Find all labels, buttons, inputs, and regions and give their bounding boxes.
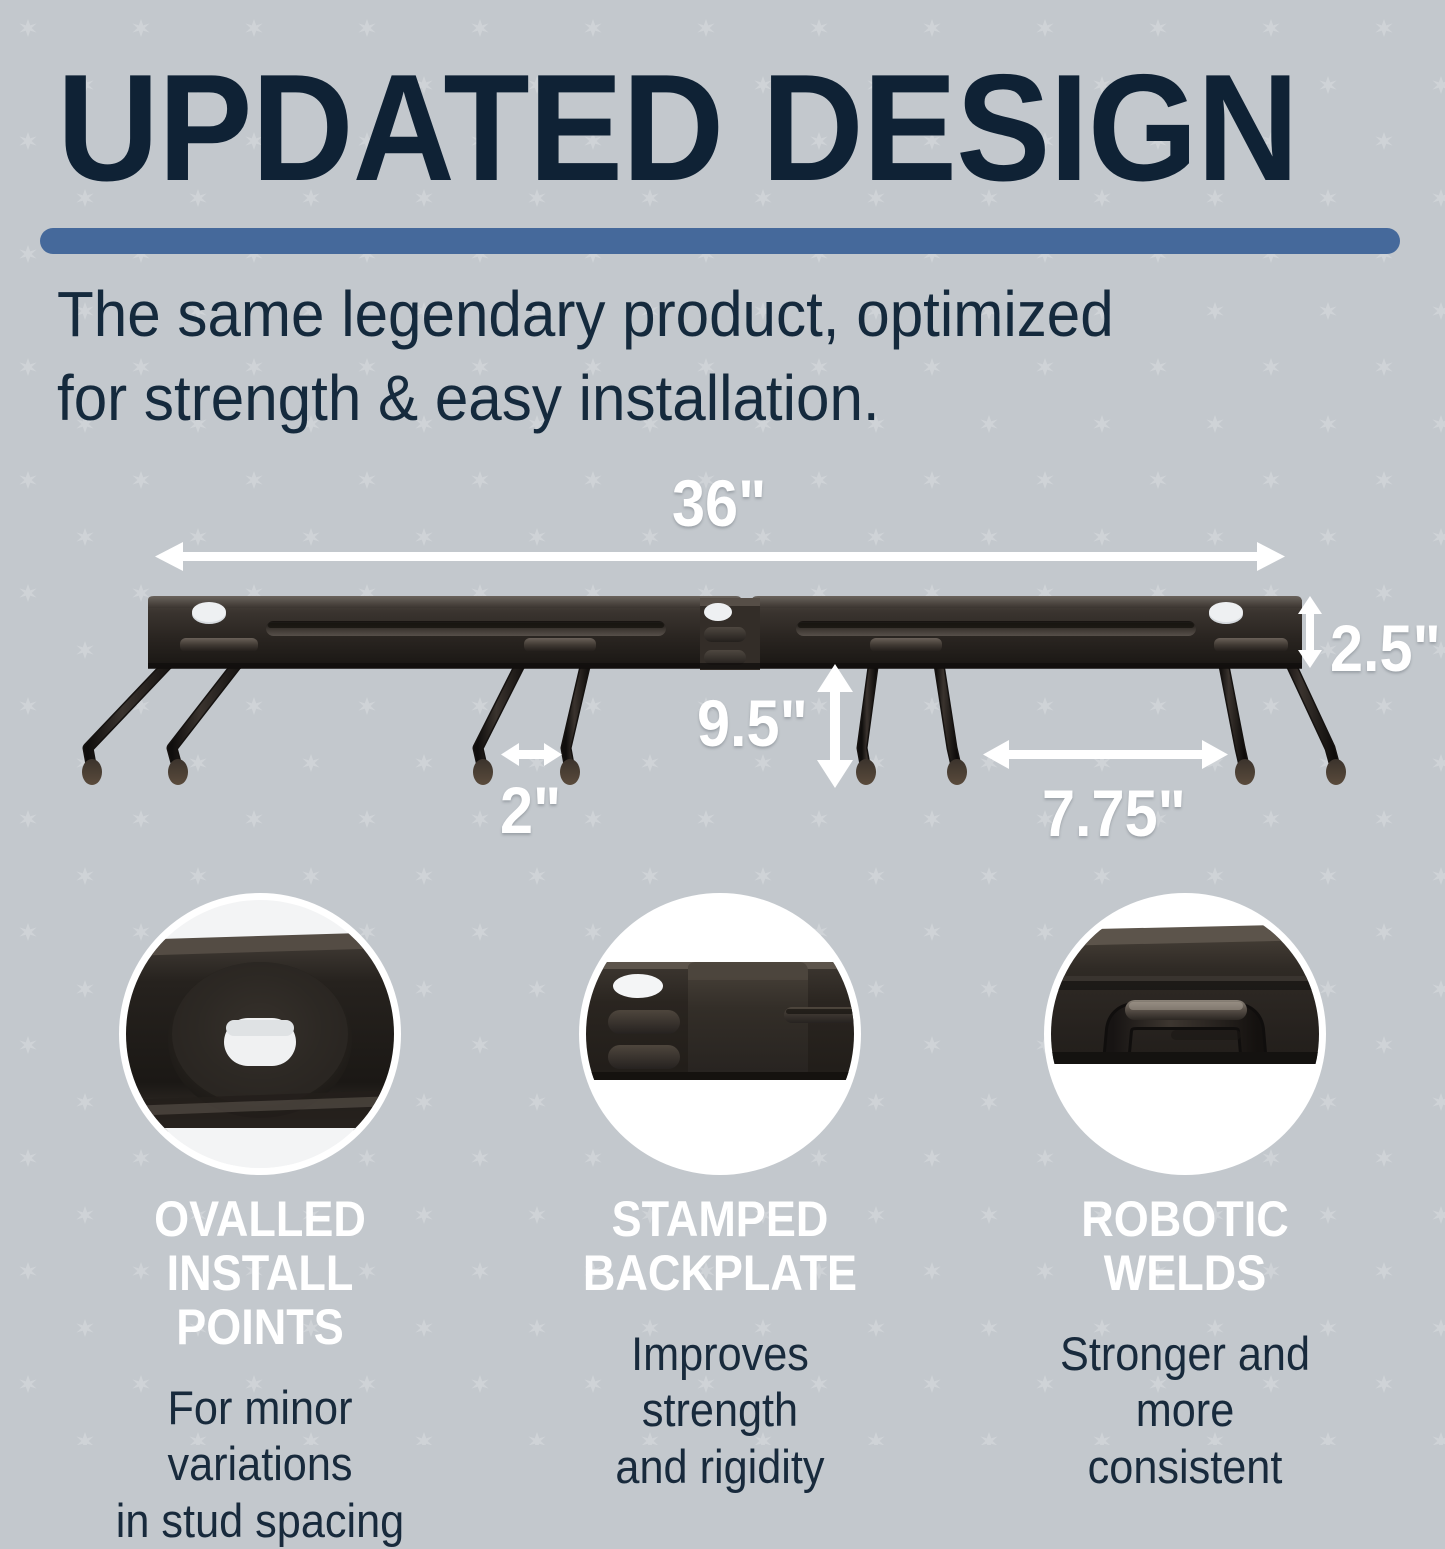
dimension-label-leg-gap: 2": [500, 772, 561, 848]
robotic-weld-icon: [1051, 900, 1319, 1168]
arrow-2-inches: [501, 743, 562, 766]
subtitle-line-2: for strength & easy installation.: [57, 356, 1307, 440]
feature-title: STAMPED BACKPLATE: [572, 1192, 869, 1300]
page-subtitle: The same legendary product, optimized fo…: [57, 272, 1307, 441]
feature-robotic-welds: ROBOTIC WELDS Stronger and more consiste…: [1020, 900, 1350, 1495]
title-underline-rule: [40, 228, 1400, 254]
dimension-label-width: 36": [672, 465, 766, 541]
arrow-36-inches: [155, 542, 1285, 571]
dimension-label-hook-spacing: 7.75": [1042, 775, 1186, 851]
arrow-7-75-inches: [983, 740, 1228, 769]
stamped-backplate-icon: [586, 900, 854, 1168]
feature-ovalled-install-points: OVALLED INSTALL POINTS For minor variati…: [95, 900, 425, 1549]
feature-stamped-backplate: STAMPED BACKPLATE Improves strength and …: [555, 900, 885, 1495]
arrow-9-5-inches: [817, 664, 853, 788]
oval-install-point-photo: [126, 900, 394, 1168]
robotic-weld-photo: [1051, 900, 1319, 1168]
subtitle-line-1: The same legendary product, optimized: [57, 272, 1307, 356]
dimension-label-plate-height: 2.5": [1330, 610, 1441, 686]
oval-install-point-icon: [126, 900, 394, 1168]
feature-title: ROBOTIC WELDS: [1037, 1192, 1334, 1300]
stamped-backplate-photo: [586, 900, 854, 1168]
feature-description: Improves strength and rigidity: [568, 1326, 872, 1495]
dimension-label-hook-depth: 9.5": [697, 685, 808, 761]
page-title: UPDATED DESIGN: [57, 52, 1303, 204]
product-dimension-diagram: 36" 2.5" 9.5" 2" 7.75": [0, 430, 1445, 900]
feature-description: For minor variations in stud spacing: [108, 1380, 412, 1549]
feature-title: OVALLED INSTALL POINTS: [112, 1192, 409, 1354]
feature-description: Stronger and more consistent: [1033, 1326, 1337, 1495]
